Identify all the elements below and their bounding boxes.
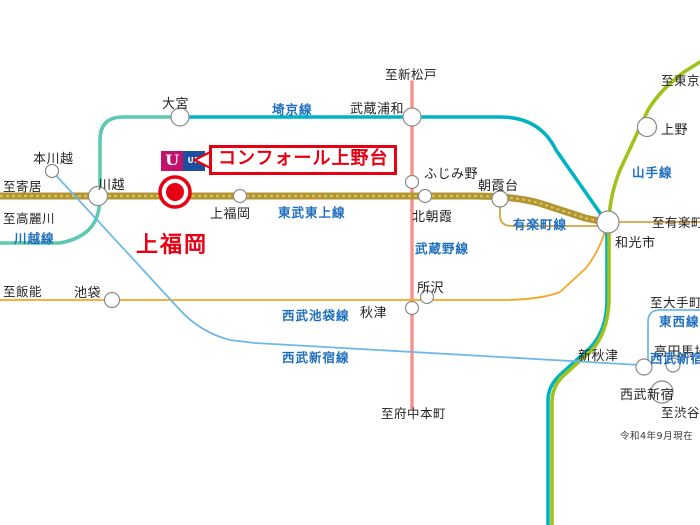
terminus-label-shin-matsudo: 至新松戸 bbox=[385, 64, 437, 83]
line-label-seibu-ikebukuro: 西武池袋線 bbox=[282, 305, 350, 324]
line-label-seibu-shinjuku-end: 西武新宿線 bbox=[650, 348, 700, 367]
station-label-takadanobaba: 新秋津 bbox=[578, 345, 619, 364]
station-label-asakadai: 北朝霞 bbox=[412, 206, 453, 225]
station-marker-fujimino[interactable] bbox=[234, 190, 247, 203]
station-label-musashi-urawa: 武蔵浦和 bbox=[350, 98, 404, 117]
station-label-tokorozawa: 池袋 bbox=[74, 282, 101, 301]
line-path-yurakucho-south bbox=[560, 228, 606, 292]
line-label-saikyo: 埼京線 bbox=[272, 99, 313, 118]
station-label-akitsu: 所沢 bbox=[417, 277, 444, 296]
line-label-musashino: 武蔵野線 bbox=[415, 238, 469, 257]
station-marker-kita-asaka[interactable] bbox=[406, 176, 419, 189]
terminus-label-hanno: 至飯能 bbox=[3, 281, 42, 300]
station-label-ueno: 上野 bbox=[661, 119, 688, 138]
callout-tail-inner bbox=[197, 154, 209, 166]
station-label-fujimino: 上福岡 bbox=[210, 203, 251, 222]
line-label-yurakucho: 有楽町線 bbox=[513, 214, 567, 233]
terminus-label-yorii: 至寄居 bbox=[3, 176, 42, 195]
station-marker-ueno[interactable] bbox=[638, 118, 657, 137]
station-marker-tokorozawa[interactable] bbox=[105, 293, 120, 308]
station-label-kawagoe: 川越 bbox=[98, 174, 125, 193]
line-path-saikyo bbox=[180, 117, 607, 525]
ur-mark-icon: U bbox=[161, 151, 183, 171]
home-station-marker[interactable] bbox=[160, 177, 190, 207]
station-label-wakoshi: 朝霞台 bbox=[478, 175, 519, 194]
as-of-date: 令和4年9月現在 bbox=[620, 428, 693, 442]
terminus-label-tokyo: 至東京 bbox=[661, 70, 700, 89]
station-marker-shin-akitsu[interactable] bbox=[406, 302, 419, 315]
home-station-label: 上福岡 bbox=[136, 227, 208, 259]
station-marker-musashi-urawa[interactable] bbox=[403, 108, 421, 126]
station-label-shinjuku: 西武新宿 bbox=[620, 384, 674, 403]
line-label-seibu-shinjuku: 西武新宿線 bbox=[282, 347, 350, 366]
station-label-shin-akitsu: 秋津 bbox=[360, 302, 387, 321]
station-label-hon-kawagoe: 本川越 bbox=[33, 148, 74, 167]
line-label-kawagoe: 川越線 bbox=[14, 228, 55, 247]
line-label-tobu-tojo: 東武東上線 bbox=[278, 202, 346, 221]
terminus-label-shibuya: 至渋谷 bbox=[661, 402, 700, 421]
ur-u-glyph: U bbox=[165, 154, 179, 168]
line-label-yamanote: 山手線 bbox=[632, 162, 673, 181]
route-map-svg bbox=[0, 0, 700, 525]
station-marker-asakadai[interactable] bbox=[419, 190, 432, 203]
terminus-label-otemachi: 至大手町 bbox=[650, 292, 700, 311]
terminus-label-komagawa: 至高麗川 bbox=[3, 208, 55, 227]
station-label-ikebukuro: 和光市 bbox=[615, 232, 656, 251]
route-map-canvas: 大宮 武蔵浦和 上野 本川越 川越 上福岡 ふじみ野 北朝霞 朝霞台 和光市 池… bbox=[0, 0, 700, 525]
station-marker-ikebukuro[interactable] bbox=[597, 211, 619, 233]
station-label-kita-asaka: ふじみ野 bbox=[424, 163, 478, 182]
station-label-omiya: 大宮 bbox=[162, 93, 189, 112]
line-path-seibu-shinjuku bbox=[52, 171, 640, 365]
terminus-label-fuchu-honmachi: 至府中本町 bbox=[381, 403, 446, 422]
line-label-tozai: 東西線 bbox=[659, 311, 700, 330]
terminus-label-yurakucho: 至有楽町 bbox=[652, 212, 700, 231]
property-callout[interactable]: コンフォール上野台 bbox=[209, 145, 397, 175]
